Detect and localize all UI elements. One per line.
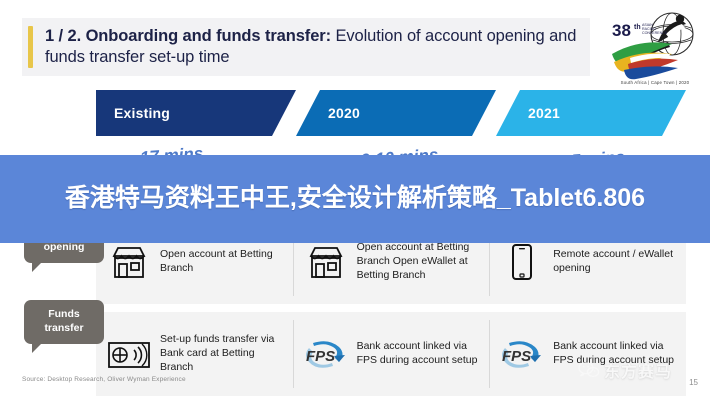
row-label-line2: transfer: [44, 322, 83, 334]
title-accent-bar: [28, 26, 33, 68]
matrix-cell-funds-2021: FPS Bank account linked via FPS during a…: [489, 312, 686, 396]
slide-title-band: 1 / 2. Onboarding and funds transfer: Ev…: [22, 18, 590, 76]
wechat-watermark-text: 东方赛马: [604, 358, 672, 382]
logo-sub-3: CONFERENCE: [642, 31, 668, 35]
row-label-funds-transfer-text: Funds transfer: [44, 308, 83, 335]
matrix-cell-text: Set-up funds transfer via Bank card at B…: [160, 333, 287, 375]
row-label-funds-transfer: Funds transfer: [24, 300, 104, 344]
overlay-banner-text: 香港特马资料王中王,安全设计解析策略_Tablet6.806: [0, 155, 710, 243]
matrix-cell-text: Remote account / eWallet opening: [553, 248, 680, 276]
page-number: 15: [689, 378, 698, 387]
fps-logo-icon: FPS: [499, 337, 545, 371]
source-note: Source: Desktop Research, Oliver Wyman E…: [22, 376, 186, 383]
storefront-icon: [303, 245, 349, 279]
timeline-header: Existing 2020 2021: [96, 90, 686, 136]
mobile-phone-icon: [499, 243, 545, 281]
logo-caption: South Africa | Cape Town | 2020: [606, 80, 704, 85]
matrix-cell-text: Open account at Betting Branch Open eWal…: [357, 241, 484, 283]
timeline-label-existing: Existing: [96, 105, 170, 121]
contactless-card-icon: [106, 339, 152, 369]
timeline-label-2021: 2021: [488, 105, 560, 121]
row-label-line1: Funds: [48, 308, 80, 320]
timeline-segment-2021: 2021: [488, 90, 686, 136]
logo-number: 38: [612, 21, 631, 40]
page-title: 1 / 2. Onboarding and funds transfer: Ev…: [45, 26, 590, 67]
matrix-cell-funds-existing: Set-up funds transfer via Bank card at B…: [96, 312, 293, 396]
timeline-segment-2020: 2020: [288, 90, 496, 136]
matrix-cell-text: Open account at Betting Branch: [160, 248, 287, 276]
storefront-icon: [106, 245, 152, 279]
screenshot-root: 1 / 2. Onboarding and funds transfer: Ev…: [0, 0, 710, 400]
timeline-label-2020: 2020: [288, 105, 360, 121]
page-title-strong: 1 / 2. Onboarding and funds transfer:: [45, 27, 331, 45]
svg-text:FPS: FPS: [502, 348, 531, 365]
wechat-watermark: 东方赛马: [578, 358, 672, 382]
logo-ordinal: th: [634, 24, 641, 31]
svg-text:FPS: FPS: [306, 348, 335, 365]
fps-logo-icon: FPS: [303, 337, 349, 371]
matrix-row-funds-transfer: Set-up funds transfer via Bank card at B…: [96, 312, 686, 396]
conference-logo-graphic: 38 th ASIAN RACING CONFERENCE: [606, 8, 704, 86]
matrix-cell-funds-2020: FPS Bank account linked via FPS during a…: [293, 312, 490, 396]
timeline-segment-existing: Existing: [96, 90, 296, 136]
matrix-cell-text: Bank account linked via FPS during accou…: [357, 340, 484, 368]
conference-logo: 38 th ASIAN RACING CONFERENCE South Afri…: [606, 8, 704, 86]
wechat-icon: [578, 361, 600, 379]
presentation-slide: 1 / 2. Onboarding and funds transfer: Ev…: [0, 0, 710, 400]
